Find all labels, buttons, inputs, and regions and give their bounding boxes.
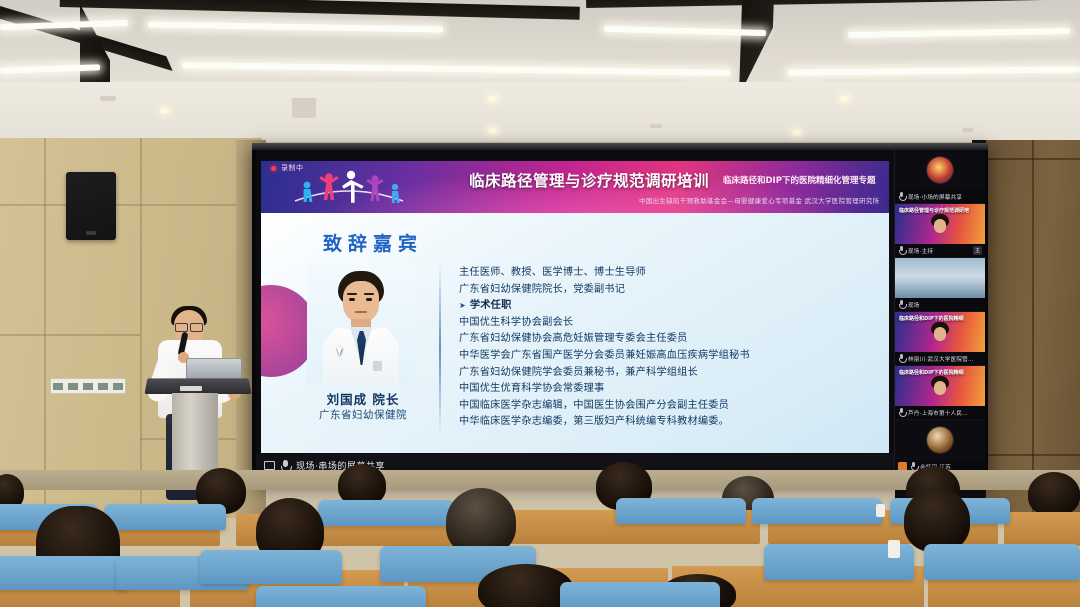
participant-tile[interactable]: 临床路径管理与诊疗规范调研培现场·主持主 — [895, 204, 985, 258]
speaker-name: 刘国成 院长 — [299, 389, 427, 408]
participant-name-bar: 现场 — [895, 298, 985, 311]
monitor-icon — [264, 461, 275, 470]
photo-avatar-icon — [927, 427, 953, 453]
wall-speaker — [66, 172, 116, 240]
participant-tile[interactable]: 临床路径和DIP下的医院精细林丽川·武汉大学医院管… — [895, 312, 985, 366]
audience-seating — [0, 470, 1080, 607]
bio-line: 中国优生科学协会副会长 — [459, 315, 879, 332]
audience-head — [1028, 472, 1080, 516]
participant-video — [895, 258, 985, 298]
slide-section-heading: 致辞嘉宾 — [323, 229, 423, 256]
speaker-affiliation: 广东省妇幼保健院 — [291, 407, 435, 422]
participant-name: 现场 — [908, 301, 920, 309]
participant-tile[interactable]: 现场 — [895, 258, 985, 312]
bio-line: 中华医学会广东省围产医学分会委员兼妊娠高血压疾病学组秘书 — [459, 348, 879, 365]
conference-room-photo: 录制中 — [0, 0, 1080, 607]
bio-line: 广东省妇幼保健院院长，党委副书记 — [459, 282, 879, 299]
participant-face — [930, 214, 950, 240]
slide-divider — [439, 263, 441, 435]
downlight — [160, 108, 169, 114]
video-meeting-window: 录制中 — [256, 150, 984, 476]
participant-name-bar: 现场·主持 — [895, 244, 985, 257]
microphone-icon — [280, 460, 291, 471]
lectern-plate — [180, 386, 202, 391]
participant-video: 临床路径和DIP下的医院精细 — [895, 312, 985, 352]
audience-seat — [256, 586, 426, 607]
participant-video: 临床路径和DIP下的医院精细 — [895, 366, 985, 406]
screen-bezel — [252, 143, 988, 150]
recording-indicator-icon — [271, 166, 276, 171]
bio-line: 广东省妇幼保健院学会委员兼秘书，兼产科学组组长 — [459, 365, 879, 382]
audience-seat — [0, 556, 128, 590]
microphone-icon — [898, 408, 905, 417]
ceiling-sensor — [292, 98, 316, 118]
conference-people-logo — [289, 167, 409, 211]
wall-control-plate — [50, 378, 126, 394]
bio-line: 中国优生优育科学协会常委理事 — [459, 381, 879, 398]
audience-seat — [924, 544, 1080, 580]
bio-section-heading: 学术任职 — [459, 298, 879, 315]
ceiling-sensor — [100, 96, 116, 101]
microphone-icon — [898, 300, 905, 309]
downlight — [792, 130, 801, 136]
bio-line: 主任医师、教授、医学博士、博士生导师 — [459, 265, 879, 282]
participant-name-bar: 林丽川·武汉大学医院管… — [895, 352, 985, 365]
participant-tile[interactable]: 临床路径和DIP下的医院精细芦丹·上海市第十人民… — [895, 366, 985, 420]
slide-subtitle: 临床路径和DIP下的医院精细化管理专题 — [723, 174, 875, 186]
ceiling-sensor — [962, 128, 973, 132]
audience-seat — [752, 498, 882, 524]
audience-head — [904, 488, 970, 552]
participant-name-bar: 芦丹·上海市第十人民… — [895, 406, 985, 419]
audience-desk — [1004, 512, 1080, 546]
microphone-icon — [898, 192, 905, 201]
downlight — [840, 96, 849, 102]
audience-seat — [560, 582, 720, 607]
bio-line: 广东省妇幼保健协会高危妊娠管理专委会主任委员 — [459, 331, 879, 348]
audience-seat — [616, 498, 746, 524]
participant-avatar — [895, 150, 985, 190]
audience-seat — [104, 504, 226, 530]
ceiling — [0, 0, 1080, 142]
participant-face — [930, 322, 950, 348]
presentation-slide: 录制中 — [261, 161, 889, 453]
speaker-portrait — [307, 265, 415, 383]
emblem-avatar-icon — [927, 157, 953, 183]
participant-name: 芦丹·上海市第十人民… — [908, 409, 968, 417]
participant-video: 临床路径管理与诊疗规范调研培 — [895, 204, 985, 244]
bio-line: 中国临床医学杂志编辑，中国医生协会围产分会副主任委员 — [459, 398, 879, 415]
microphone-icon — [898, 354, 905, 363]
participant-face — [930, 376, 950, 402]
right-wall-wood-panel — [986, 140, 1080, 520]
speaker-bio-list: 主任医师、教授、医学博士、博士生导师广东省妇幼保健院院长，党委副书记学术任职中国… — [459, 265, 879, 431]
participant-name: 现场·小场的屏幕共享 — [908, 193, 962, 201]
participant-name-bar: 现场·小场的屏幕共享 — [895, 190, 985, 203]
projection-screen: 录制中 — [252, 143, 988, 480]
water-cup — [888, 540, 900, 558]
audience-seat — [200, 550, 342, 584]
bio-line: 中华临床医学杂志编委，第三版妇产科统编专科教材编委。 — [459, 414, 879, 431]
participant-avatar — [895, 420, 985, 460]
audience-seat — [318, 500, 454, 526]
water-cup — [876, 504, 885, 517]
downlight — [488, 128, 497, 134]
participant-name: 林丽川·武汉大学医院管… — [908, 355, 974, 363]
slide-organizers: 中国出生缺陷干预救助基金会—母婴健康爱心专项基金 武汉大学医院管理研究所 — [639, 195, 879, 205]
presenter-glasses — [175, 323, 203, 330]
participant-name: 现场·主持 — [908, 247, 933, 255]
participant-tile[interactable]: 现场·小场的屏幕共享 — [895, 150, 985, 204]
participant-sidebar[interactable]: 现场·小场的屏幕共享临床路径管理与诊疗规范调研培现场·主持主现场临床路径和DIP… — [894, 150, 984, 476]
shared-screen-area[interactable]: 录制中 — [256, 150, 894, 476]
downlight — [488, 96, 497, 102]
ceiling-sensor — [650, 124, 662, 128]
host-tag: 主 — [973, 246, 982, 255]
slide-body: 致辞嘉宾 — [261, 213, 889, 453]
microphone-icon — [898, 246, 905, 255]
